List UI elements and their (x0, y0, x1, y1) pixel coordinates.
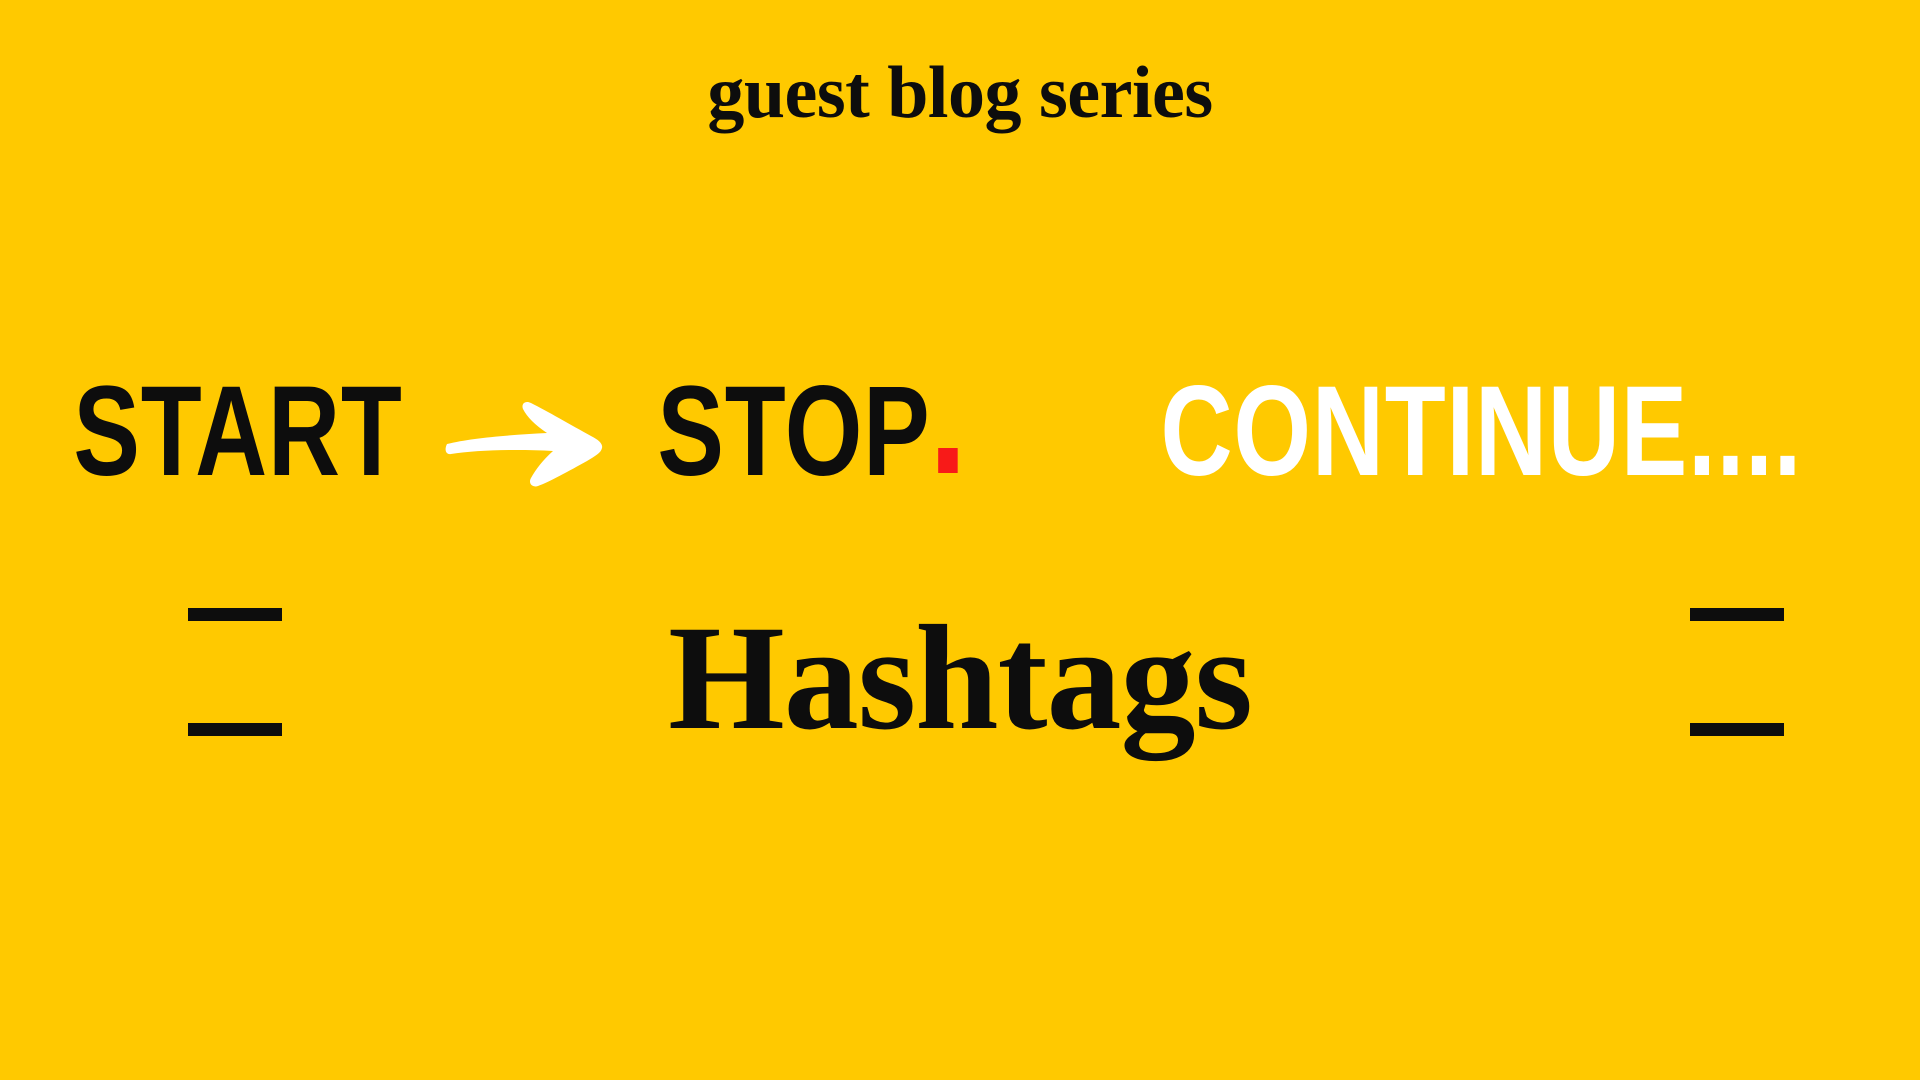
bar-right-top (1690, 608, 1784, 621)
arrow-right-icon (443, 392, 619, 488)
headline-text: Hashtags (0, 600, 1920, 758)
slide-canvas: guest blog series START STOP CONTINUE...… (0, 0, 1920, 1080)
bar-right-bottom (1690, 723, 1784, 736)
decorative-bars-right (1690, 608, 1784, 736)
stop-label: STOP (657, 360, 930, 503)
headline-row: Hashtags (0, 600, 1920, 780)
continue-label: CONTINUE.... (1161, 368, 1803, 496)
stop-label-group: STOP (657, 368, 957, 496)
action-row: START STOP CONTINUE.... (0, 352, 1920, 512)
stop-period-dot (938, 448, 958, 473)
page-title: guest blog series (0, 56, 1920, 130)
start-label: START (73, 368, 402, 496)
